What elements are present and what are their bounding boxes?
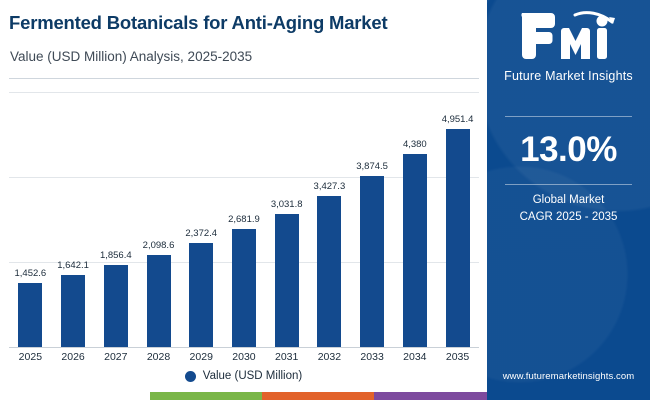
brand-name: Future Market Insights [487,69,650,83]
fmi-logo-icon [515,10,623,60]
bar [360,176,384,347]
page-title: Fermented Botanicals for Anti-Aging Mark… [9,12,479,34]
panel-divider-bottom [505,184,632,185]
legend-label: Value (USD Million) [203,370,302,382]
bar-value-label: 2,681.9 [228,214,260,225]
title-divider [9,78,479,79]
chart-legend: Value (USD Million) [0,370,487,382]
bar-value-label: 2,372.4 [185,228,217,239]
bar-value-label: 2,098.6 [143,240,175,251]
bar-column: 3,427.3 [310,92,348,347]
x-axis-tick-label: 2028 [140,351,178,369]
x-axis-tick-label: 2035 [439,351,477,369]
bar [104,265,128,347]
cagr-caption-line1: Global Market [487,192,650,209]
cagr-caption: Global Market CAGR 2025 - 2035 [487,192,650,226]
x-axis-tick-label: 2025 [11,351,49,369]
bar-value-label: 3,874.5 [356,161,388,172]
bar-column: 3,031.8 [268,92,306,347]
bar [232,229,256,347]
bar-column: 1,452.6 [11,92,49,347]
bar [147,255,171,347]
bar [446,129,470,347]
bar-value-label: 3,031.8 [271,199,303,210]
x-axis-tick-label: 2030 [225,351,263,369]
x-axis-line [9,347,479,348]
x-axis-tick-label: 2029 [182,351,220,369]
bar [275,214,299,347]
bar-value-label: 4,380 [403,139,427,150]
stripe-purple [374,392,487,400]
stripe-orange [262,392,374,400]
x-axis-labels: 2025202620272028202920302031203220332034… [9,351,479,369]
x-axis-tick-label: 2026 [54,351,92,369]
x-axis-tick-label: 2033 [353,351,391,369]
bar-value-label: 1,642.1 [57,260,89,271]
x-axis-tick-label: 2031 [268,351,306,369]
brand-logo: Future Market Insights [487,10,650,83]
website-url: www.futuremarketinsights.com [487,371,650,382]
bar-column: 4,380 [396,92,434,347]
chart-infographic: Fermented Botanicals for Anti-Aging Mark… [0,0,650,400]
cagr-value: 13.0% [487,130,650,170]
bar-series: 1,452.61,642.11,856.42,098.62,372.42,681… [9,92,479,347]
bar-column: 1,856.4 [97,92,135,347]
bar-column: 2,681.9 [225,92,263,347]
bar-column: 2,098.6 [140,92,178,347]
plot-area: 1,452.61,642.11,856.42,098.62,372.42,681… [9,92,479,347]
stripe-blue [487,392,650,400]
chart-panel: Fermented Botanicals for Anti-Aging Mark… [0,0,487,392]
bar [403,154,427,347]
bar-column: 2,372.4 [182,92,220,347]
bar-column: 3,874.5 [353,92,391,347]
x-axis-tick-label: 2027 [97,351,135,369]
x-axis-tick-label: 2034 [396,351,434,369]
bar-value-label: 1,452.6 [15,268,47,279]
legend-marker-icon [185,371,196,382]
bar [61,275,85,347]
x-axis-tick-label: 2032 [310,351,348,369]
bar-column: 4,951.4 [439,92,477,347]
chart-subtitle: Value (USD Million) Analysis, 2025-2035 [10,48,480,66]
bar [18,283,42,347]
cagr-caption-line2: CAGR 2025 - 2035 [487,209,650,226]
bar [317,196,341,347]
side-panel: Future Market Insights 13.0% Global Mark… [487,0,650,392]
footer-stripes [0,392,650,400]
bar-column: 1,642.1 [54,92,92,347]
stripe-green [150,392,262,400]
bar-value-label: 4,951.4 [442,114,474,125]
bar-value-label: 3,427.3 [314,181,346,192]
bar [189,243,213,347]
bar-value-label: 1,856.4 [100,250,132,261]
panel-divider-top [505,116,632,117]
stripe-white [0,392,150,400]
